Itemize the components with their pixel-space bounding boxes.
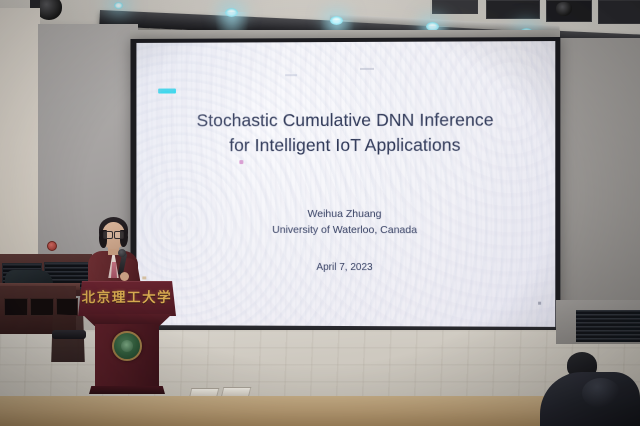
podium-base bbox=[89, 386, 165, 394]
podium-institution-label: 北京理工大学 bbox=[78, 286, 176, 306]
projection-screen: Stochastic Cumulative DNN Inference for … bbox=[136, 41, 555, 327]
speaker-glasses bbox=[103, 231, 124, 237]
university-emblem-icon bbox=[112, 331, 142, 361]
ceiling-speaker-right bbox=[556, 2, 572, 16]
ceiling-panel-1 bbox=[486, 0, 540, 19]
speaker-hand bbox=[120, 272, 129, 281]
fire-alarm-icon bbox=[47, 241, 57, 251]
presentation-slide: Stochastic Cumulative DNN Inference for … bbox=[136, 41, 555, 327]
table-cubby-2 bbox=[30, 298, 54, 316]
table-cubby-1 bbox=[4, 298, 28, 316]
wall-right bbox=[556, 38, 640, 338]
stage-chair-seat bbox=[52, 330, 86, 339]
slide-amber-speck bbox=[142, 276, 146, 279]
slide-corner-dot bbox=[538, 302, 541, 305]
audience-jacket-highlight bbox=[582, 378, 620, 408]
slide-cyan-swatch bbox=[158, 89, 176, 94]
slide-faint-mark-2 bbox=[285, 74, 297, 76]
downlight-2 bbox=[330, 16, 343, 25]
slide-faint-mark-1 bbox=[360, 68, 374, 70]
slide-title: Stochastic Cumulative DNN Inference for … bbox=[166, 108, 526, 158]
slide-title-line-2: for Intelligent IoT Applications bbox=[166, 133, 526, 158]
lecture-hall-photo: Stochastic Cumulative DNN Inference for … bbox=[0, 0, 640, 426]
slide-date: April 7, 2023 bbox=[316, 262, 372, 273]
downlight-5 bbox=[114, 2, 123, 9]
slide-title-line-1: Stochastic Cumulative DNN Inference bbox=[166, 108, 526, 134]
slide-author-block: Weihua Zhuang University of Waterloo, Ca… bbox=[272, 206, 417, 239]
table-cubby-3 bbox=[56, 298, 78, 316]
projection-screen-frame: Stochastic Cumulative DNN Inference for … bbox=[131, 37, 561, 339]
ceiling-panel-3 bbox=[598, 0, 640, 24]
slide-affiliation: University of Waterloo, Canada bbox=[272, 222, 417, 238]
downlight-1 bbox=[225, 8, 238, 17]
projection-booth-window bbox=[432, 0, 478, 14]
slide-pink-dot bbox=[239, 160, 243, 164]
microphone-head-icon bbox=[118, 249, 126, 257]
slide-author-name: Weihua Zhuang bbox=[272, 206, 417, 222]
wall-vent-right bbox=[576, 310, 640, 342]
